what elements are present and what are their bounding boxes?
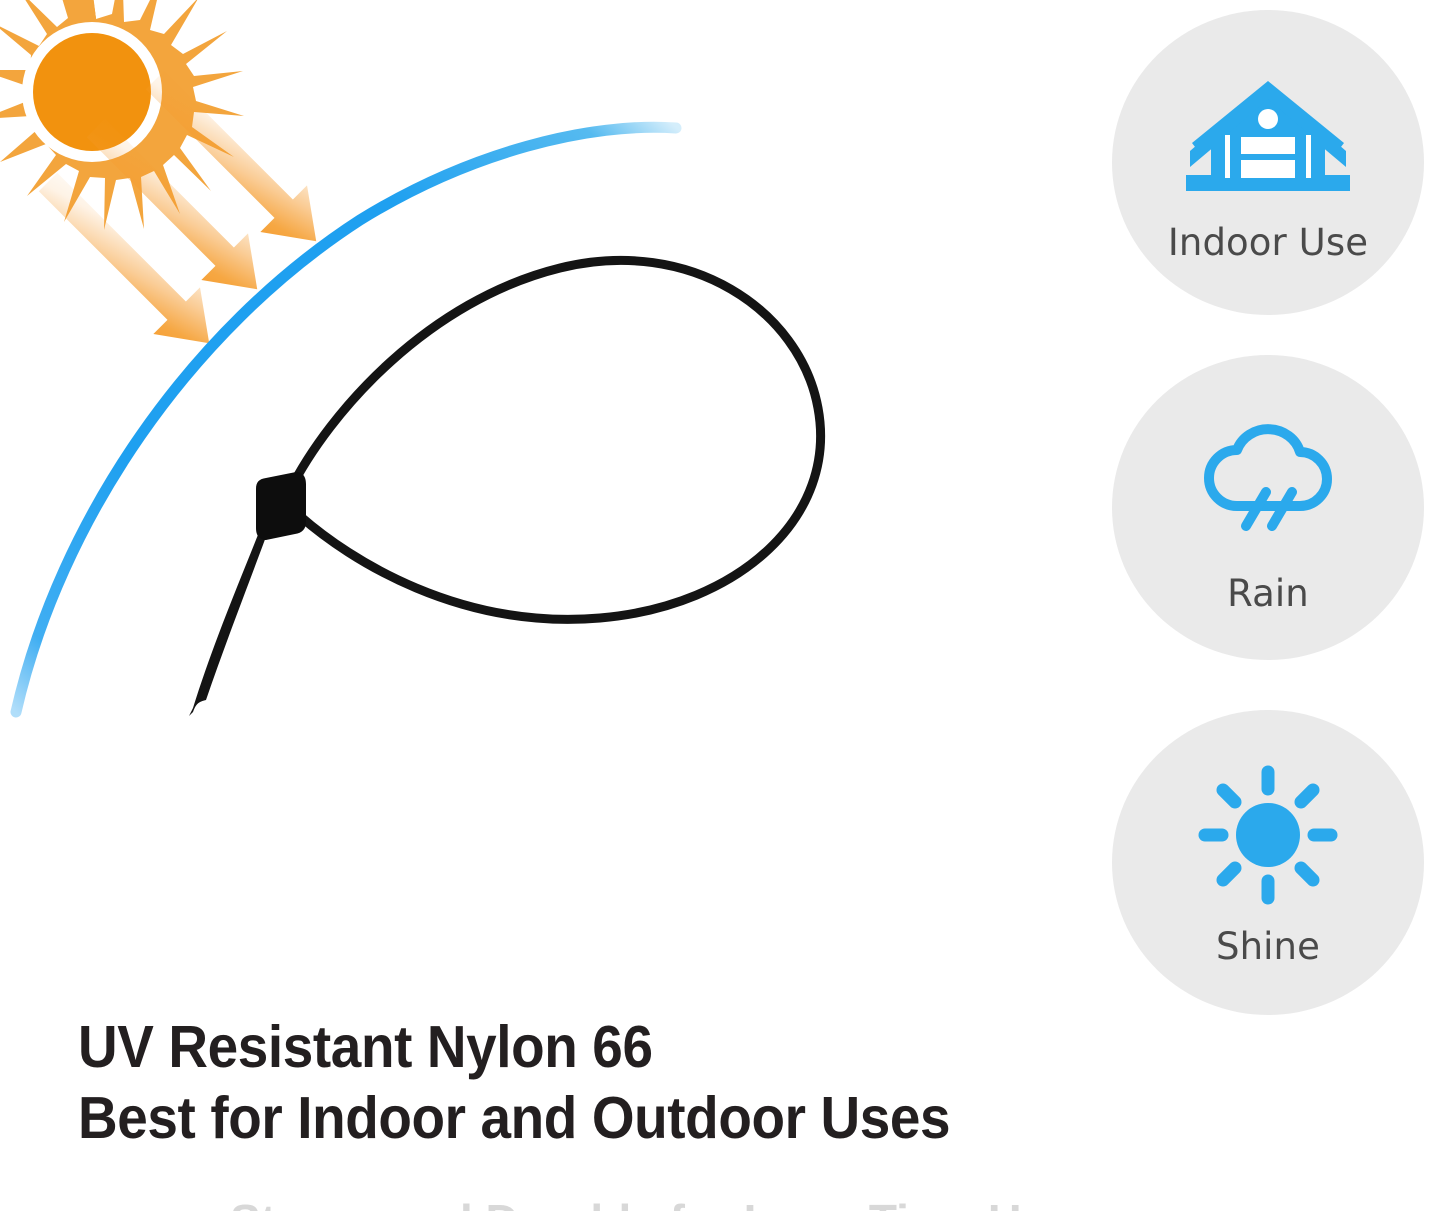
feature-label-indoor-use: Indoor Use xyxy=(1168,224,1368,261)
cutoff-subtext-label: Strong and Durable for Long Time Use xyxy=(230,1200,1130,1211)
feature-badge-indoor-use[interactable]: Indoor Use xyxy=(1112,10,1424,315)
house-icon xyxy=(1188,64,1348,214)
headline-line-2: Best for Indoor and Outdoor Uses xyxy=(78,1083,1008,1154)
feature-label-shine: Shine xyxy=(1216,928,1320,965)
uv-ray-arrow-icon xyxy=(25,159,233,367)
uv-shield-arc xyxy=(16,127,676,712)
feature-badge-column: Indoor Use Rain xyxy=(1112,10,1424,1015)
cable-tie-icon xyxy=(189,260,821,716)
feature-badge-rain[interactable]: Rain xyxy=(1112,355,1424,660)
feature-graphic-page: Indoor Use Rain xyxy=(0,0,1432,1211)
feature-label-rain: Rain xyxy=(1227,575,1309,612)
sun-shine-icon xyxy=(1188,760,1348,910)
uv-cable-tie-illustration xyxy=(0,0,1000,1000)
headline-block: UV Resistant Nylon 66 Best for Indoor an… xyxy=(78,1012,1078,1154)
cable-tie-head xyxy=(256,472,306,540)
rain-cloud-icon xyxy=(1188,403,1348,553)
headline-line-1: UV Resistant Nylon 66 xyxy=(78,1012,1008,1083)
feature-badge-shine[interactable]: Shine xyxy=(1112,710,1424,1015)
cutoff-subtext: Strong and Durable for Long Time Use xyxy=(230,1200,1130,1211)
